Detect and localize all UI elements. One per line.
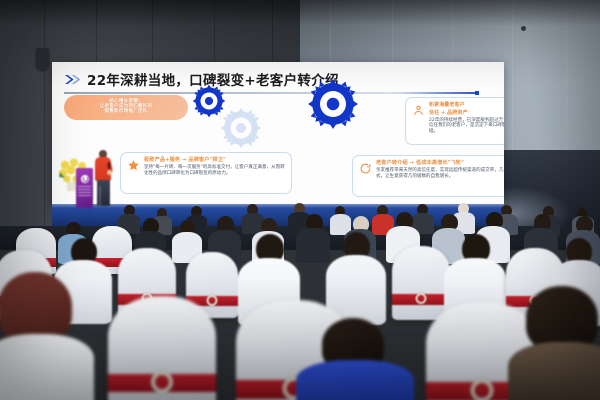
round-buckle-icon <box>207 295 218 306</box>
title-underline-dot <box>475 91 479 95</box>
round-buckle-icon <box>151 371 173 393</box>
double-chevron-right-icon <box>64 74 81 85</box>
podium <box>76 168 93 208</box>
audience-person <box>508 286 600 400</box>
core-logic-pill: 核心增长逻辑： 让老客户成为我们最好的 销售和市场推广团队 <box>64 95 188 120</box>
group-people-icon <box>412 102 425 140</box>
card-text: 22年的持续经营，已深度服务超过万个本地家庭，这些信任我们的老客户，是沉淀下来口… <box>429 118 504 136</box>
card-heading: 老客户转介绍 → 低成本高增长"飞轮" <box>376 160 504 167</box>
podium-logo-icon <box>81 175 89 183</box>
audience-person <box>326 232 386 324</box>
flywheel-growth-icon <box>359 160 372 192</box>
podium-banner-text <box>78 186 91 196</box>
wall-seam <box>44 0 45 238</box>
round-buckle-icon <box>471 379 494 400</box>
handheld-microphone-icon <box>108 162 110 169</box>
card-text: 亲友推荐带来天然的高信任度，实现远超传统渠道的成交率，几乎零成本的获客模式，让生… <box>376 168 504 180</box>
audience-person <box>296 318 414 400</box>
gear-large-solid-icon <box>307 78 359 130</box>
card-text: 坚持"每一片砖、每一次服务"的高标准交付，让客户真正满意，从而转化性的品牌口碑转… <box>144 165 285 177</box>
card-top-right: 积累海量老客户 信任 + 品牌资产 22年的持续经营，已深度服务超过万个本地家庭… <box>405 97 504 145</box>
round-buckle-icon <box>416 293 427 304</box>
card-heading: 积累海量老客户 <box>429 102 504 108</box>
presenter-leg-gap <box>99 186 101 206</box>
presenter-hand <box>107 170 112 175</box>
title-underline <box>64 92 478 94</box>
conference-photo-scene: 22年深耕当地，口碑裂变+老客户转介绍 核心增长逻辑： 让老客户成为我们最好的 … <box>0 0 600 400</box>
chair-cover <box>108 296 216 400</box>
card-heading: 极致产品+服务 → 品牌客户"捍卫" <box>144 157 285 164</box>
ceiling-shadow <box>0 0 600 26</box>
wall-fixture-icon <box>521 26 526 31</box>
star-quality-icon <box>127 157 140 189</box>
card-bottom-left: 极致产品+服务 → 品牌客户"捍卫" 坚持"每一片砖、每一次服务"的高标准交付，… <box>120 152 292 194</box>
presenter <box>93 150 115 206</box>
card-subheading: 信任 + 品牌资产 <box>429 110 504 116</box>
card-bottom-right: 老客户转介绍 → 低成本高增长"飞轮" 亲友推荐带来天然的高信任度，实现远超传统… <box>352 155 504 197</box>
audience-person <box>0 272 94 400</box>
chair-cover <box>392 246 450 320</box>
wall-speaker-icon <box>36 48 49 70</box>
slide-title-row: 22年深耕当地，口碑裂变+老客户转介绍 <box>64 69 492 89</box>
gear-faded-icon <box>220 107 262 149</box>
presentation-slide: 22年深耕当地，口碑裂变+老客户转介绍 核心增长逻辑： 让老客户成为我们最好的 … <box>52 62 504 204</box>
pill-line-3: 销售和市场推广团队 <box>104 110 147 115</box>
audience-person <box>296 214 330 262</box>
